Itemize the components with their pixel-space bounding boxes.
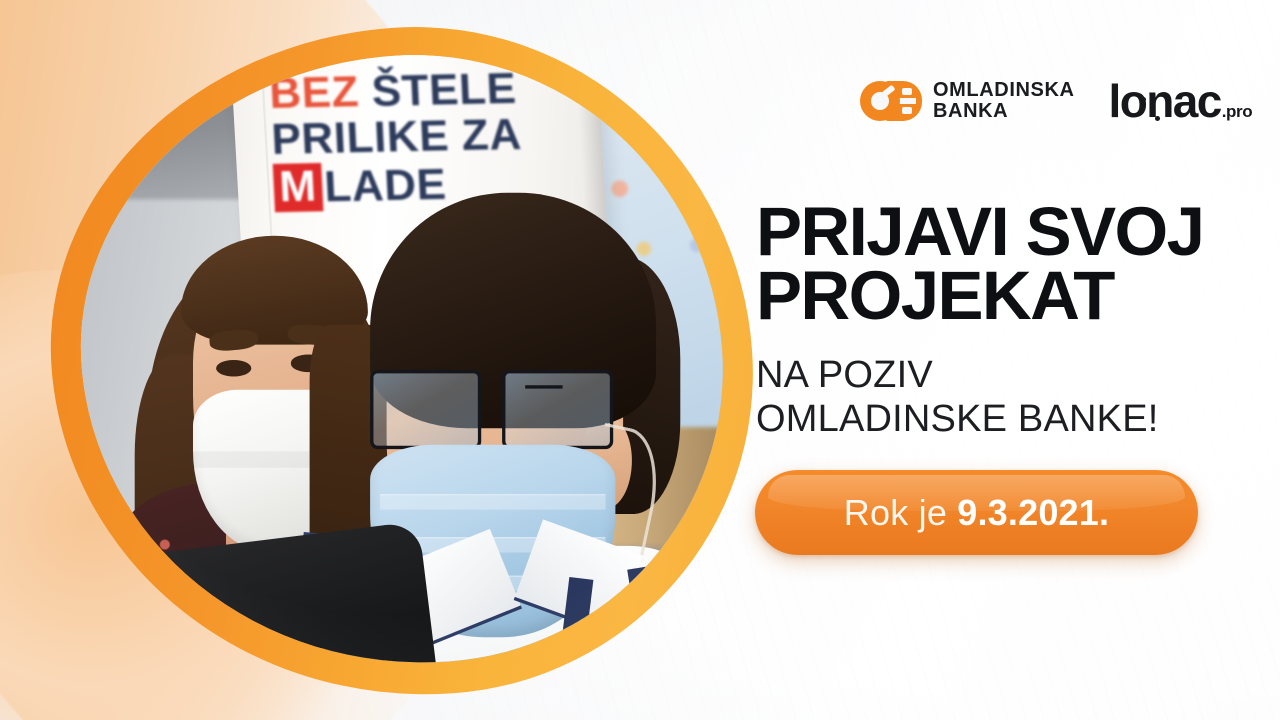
deadline-prefix: Rok je [844, 492, 957, 533]
deadline-date: 9.3.2021. [957, 492, 1109, 533]
lonac-suffix: .pro [1222, 103, 1253, 124]
promo-banner: BEZ ŠTELE PRILIKE ZA M LADE [0, 0, 1280, 720]
ob-b-counter-top [902, 88, 912, 95]
logo-row: OMLADINSKA BANKA lonac .pro [860, 78, 1252, 124]
page-title: PRIJAVI SVOJ PROJEKAT [756, 200, 1226, 328]
photo-blob: BEZ ŠTELE PRILIKE ZA M LADE [52, 28, 752, 696]
deadline-button[interactable]: Rok je 9.3.2021. [755, 470, 1198, 555]
lonac-wordmark: lonac [1109, 78, 1221, 124]
omladinska-banka-wordmark: OMLADINSKA BANKA [933, 80, 1075, 122]
ob-b-counter-bottom [902, 107, 912, 114]
lonac-dot-upper [1141, 97, 1146, 102]
lonac-logo[interactable]: lonac .pro [1109, 78, 1253, 124]
lonac-dot-lower [1155, 116, 1160, 121]
ob-wordmark-line2: BANKA [933, 101, 1075, 122]
event-photo: BEZ ŠTELE PRILIKE ZA M LADE [62, 34, 743, 685]
headline-line-2: PROJEKAT [756, 264, 1226, 328]
omladinska-banka-logo[interactable]: OMLADINSKA BANKA [860, 80, 1075, 122]
deadline-label: Rok je 9.3.2021. [844, 492, 1109, 534]
ob-wordmark-line1: OMLADINSKA [933, 80, 1075, 101]
ob-monogram-icon [860, 81, 922, 121]
headline-line-1: PRIJAVI SVOJ [756, 200, 1226, 264]
page-subtitle: NA POZIV OMLADINSKE BANKE! [756, 353, 1226, 441]
subheadline-line-1: NA POZIV [756, 353, 1226, 397]
photo-soft-overlay [62, 34, 743, 685]
event-photo-content: BEZ ŠTELE PRILIKE ZA M LADE [62, 34, 743, 685]
subheadline-line-2: OMLADINSKE BANKE! [756, 397, 1226, 441]
